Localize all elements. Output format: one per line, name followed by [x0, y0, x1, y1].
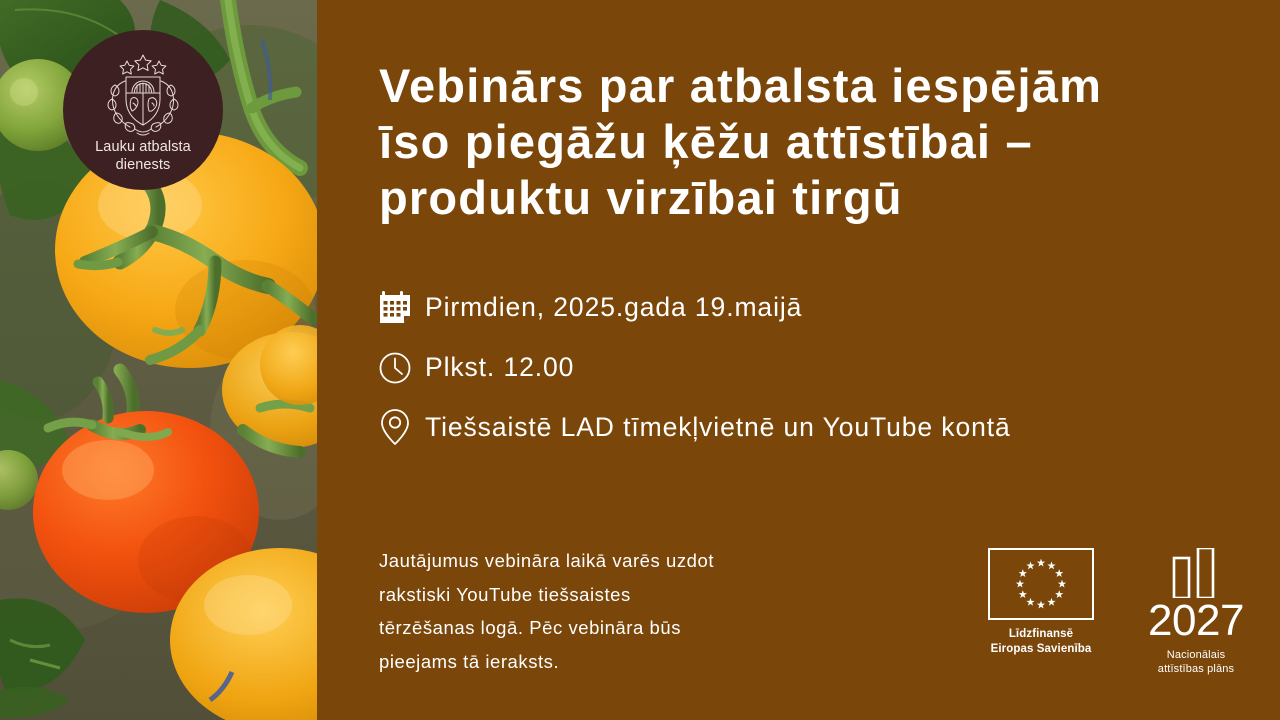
- event-time-text: Plkst. 12.00: [425, 352, 574, 383]
- nap-caption-line-1: Nacionālais: [1158, 648, 1234, 662]
- latvian-coat-of-arms-icon: [101, 51, 185, 137]
- title-line-3: produktu virzībai tirgū: [379, 170, 1259, 226]
- eu-caption-line-2: Eiropas Savienība: [988, 642, 1094, 657]
- nap-year: 2027: [1148, 599, 1244, 643]
- footnote-line-4: pieejams tā ieraksts.: [379, 645, 879, 679]
- calendar-icon: [379, 290, 425, 325]
- event-location-text: Tiešsaistē LAD tīmekļvietnē un YouTube k…: [425, 412, 1011, 443]
- title-line-2: īso piegāžu ķēžu attīstībai –: [379, 114, 1259, 170]
- content-panel: Vebinārs par atbalsta iespējām īso piegā…: [317, 0, 1280, 720]
- page-title: Vebinārs par atbalsta iespējām īso piegā…: [379, 58, 1259, 226]
- eu-funding-caption: Līdzfinansē Eiropas Savienība: [988, 627, 1094, 656]
- eu-funding-logo: Līdzfinansē Eiropas Savienība: [988, 548, 1094, 656]
- nap-caption: Nacionālais attīstības plāns: [1158, 648, 1234, 677]
- footnote-text: Jautājumus vebināra laikā varēs uzdot ra…: [379, 544, 879, 679]
- footnote-line-3: tērzēšanas logā. Pēc vebināra būs: [379, 611, 879, 645]
- event-detail-time: Plkst. 12.00: [379, 337, 1259, 397]
- footnote-line-1: Jautājumus vebināra laikā varēs uzdot: [379, 544, 879, 578]
- lad-logo: Lauku atbalsta dienests: [63, 30, 223, 190]
- lad-logo-text: Lauku atbalsta dienests: [95, 139, 191, 174]
- event-date-text: Pirmdien, 2025.gada 19.maijā: [425, 292, 802, 323]
- lad-logo-line2: dienests: [95, 157, 191, 175]
- location-pin-icon: [379, 408, 425, 446]
- event-detail-date: Pirmdien, 2025.gada 19.maijā: [379, 277, 1259, 337]
- title-line-1: Vebinārs par atbalsta iespējām: [379, 58, 1259, 114]
- event-detail-location: Tiešsaistē LAD tīmekļvietnē un YouTube k…: [379, 397, 1259, 457]
- eu-caption-line-1: Līdzfinansē: [988, 627, 1094, 642]
- event-details-list: Pirmdien, 2025.gada 19.maijā Plkst. 12.0…: [379, 277, 1259, 457]
- lad-logo-line1: Lauku atbalsta: [95, 139, 191, 157]
- nap-caption-line-2: attīstības plāns: [1158, 662, 1234, 676]
- eu-flag-icon: [988, 548, 1094, 620]
- nap-bars-icon: [1168, 548, 1224, 598]
- webinar-announcement-poster: Lauku atbalsta dienests Vebinārs par atb…: [0, 0, 1280, 720]
- funding-logos: Līdzfinansē Eiropas Savienība 2027 Nacio…: [988, 548, 1258, 670]
- footnote-line-2: rakstiski YouTube tiešsaistes: [379, 578, 879, 612]
- clock-icon: [379, 350, 425, 385]
- nap-logo: 2027 Nacionālais attīstības plāns: [1140, 548, 1252, 677]
